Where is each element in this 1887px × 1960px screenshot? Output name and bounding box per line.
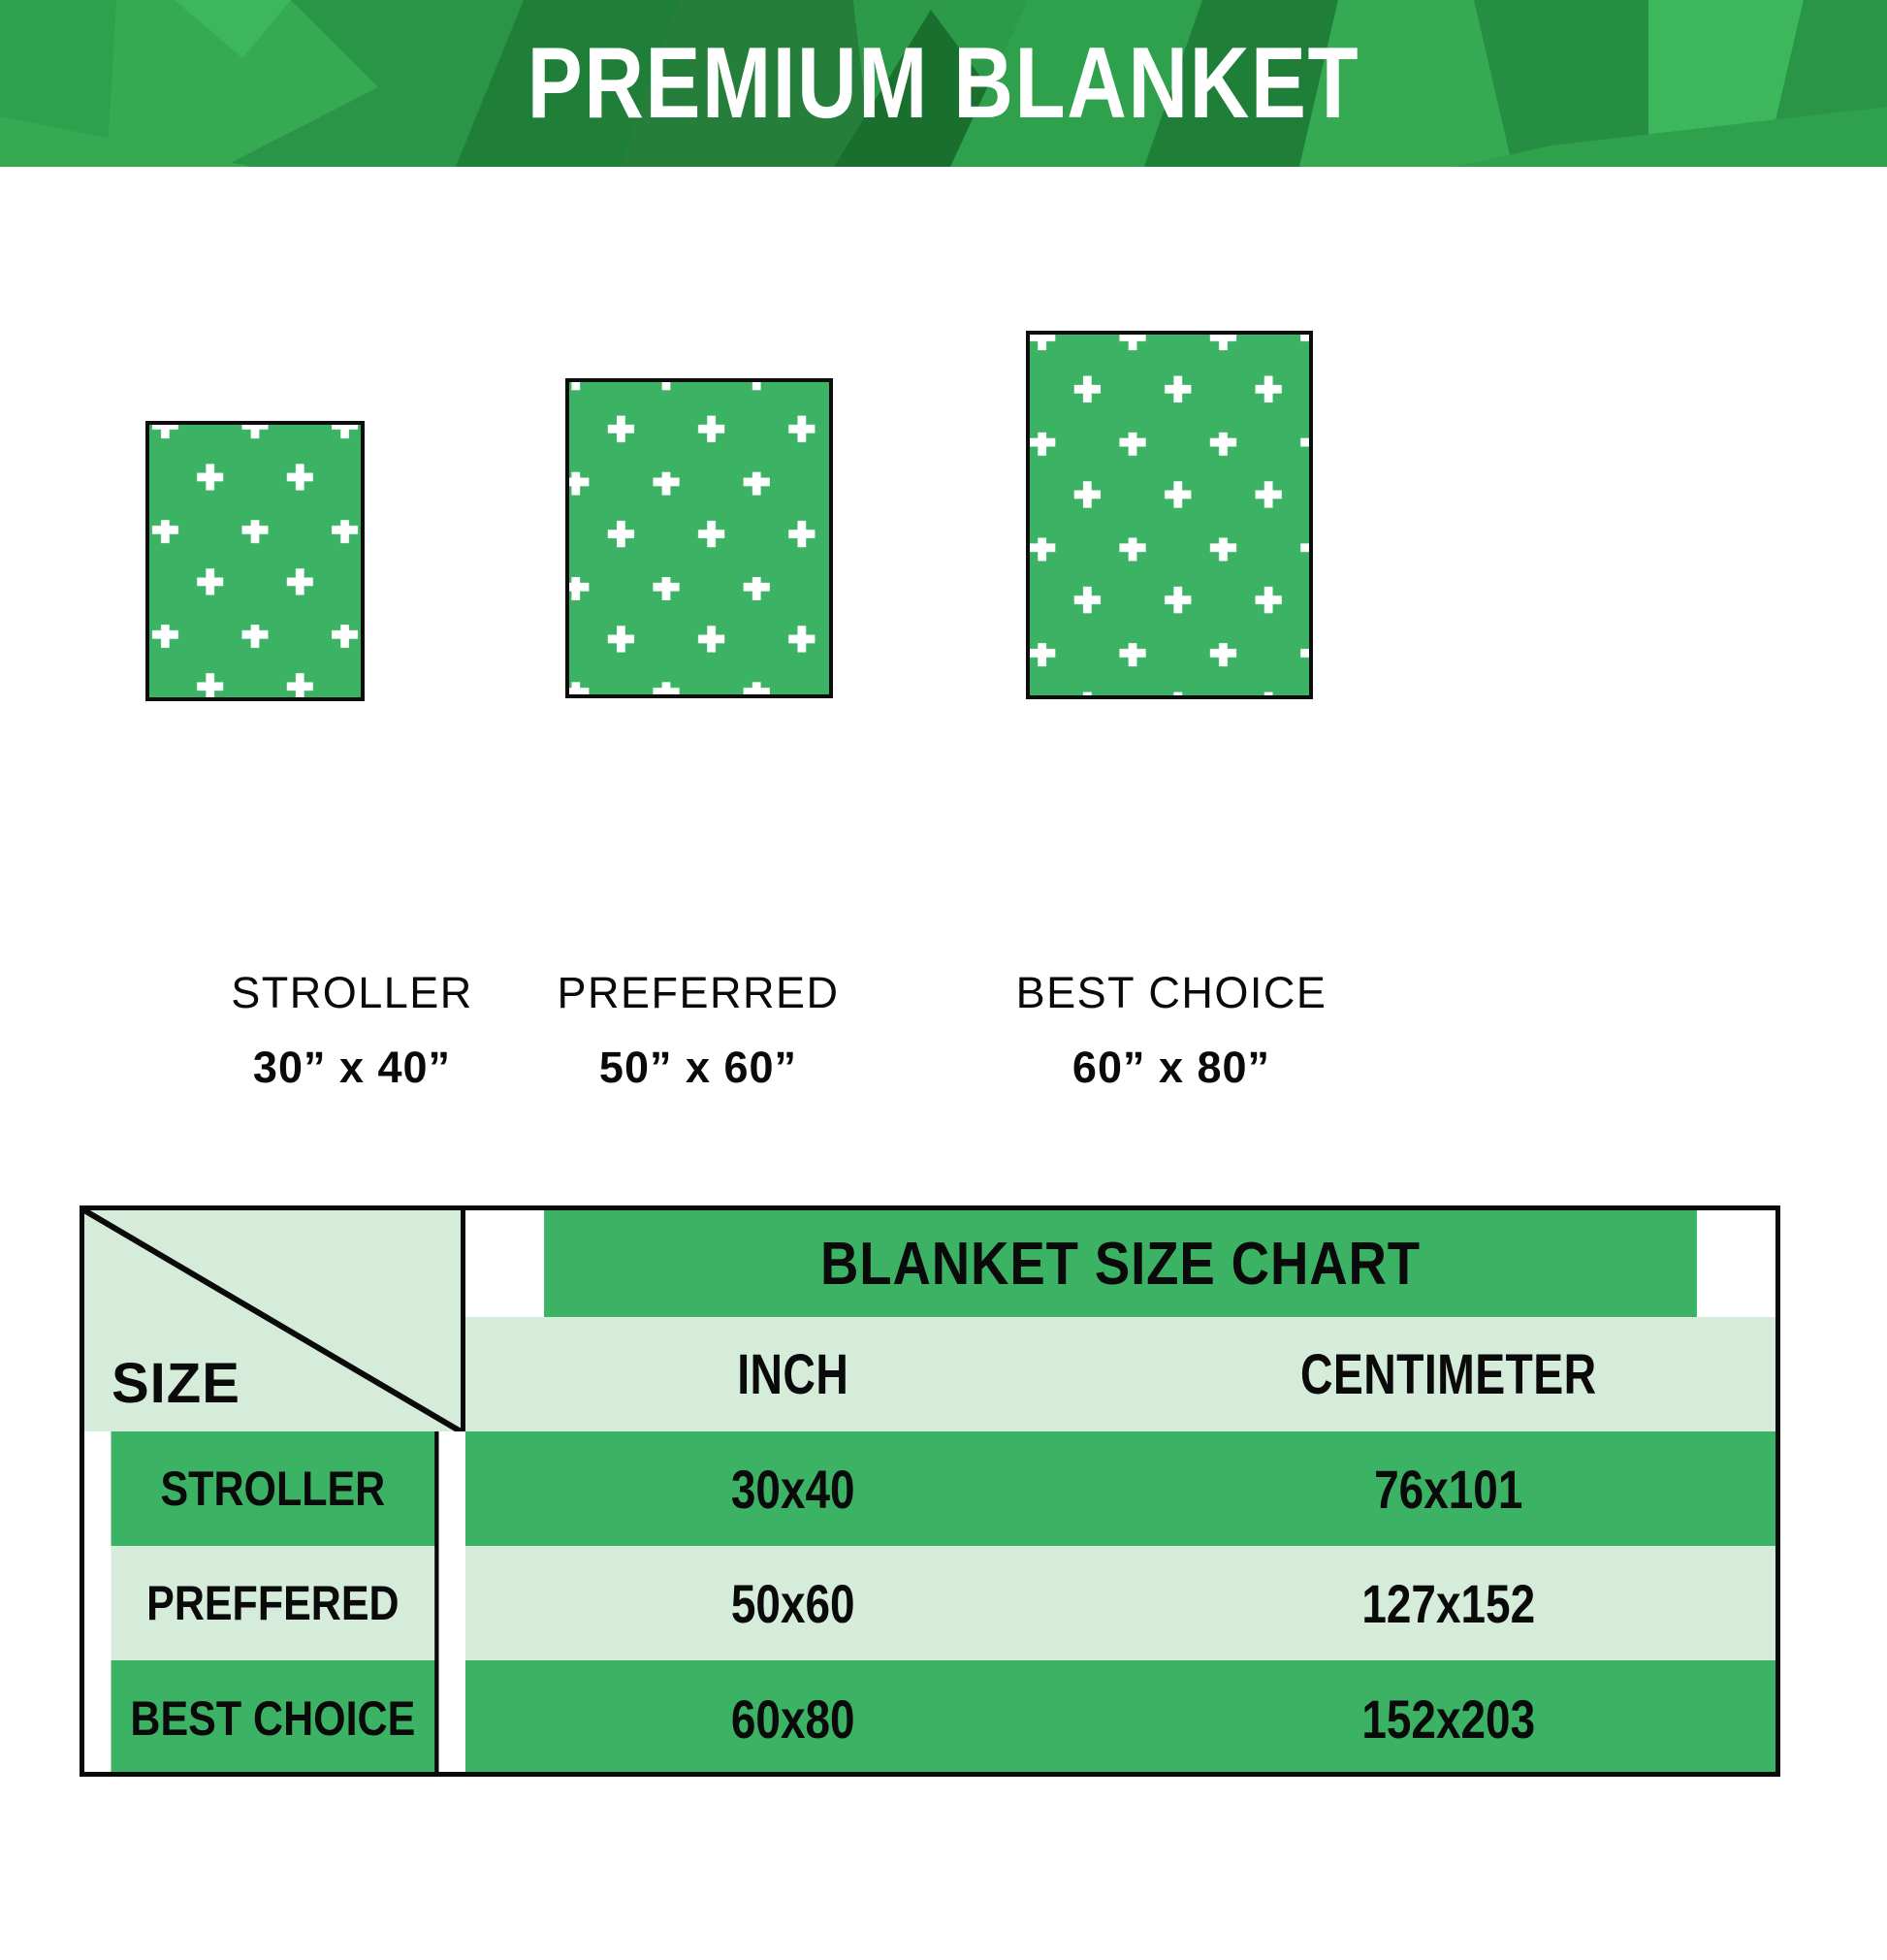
table-row: 60x80 152x203 — [465, 1660, 1775, 1777]
cell-inch-stroller: 30x40 — [525, 1431, 1062, 1546]
table-title: BLANKET SIZE CHART — [544, 1210, 1697, 1317]
blanket-size-chart-table: SIZE BLANKET SIZE CHART INCH CENTIMETER … — [80, 1205, 1780, 1777]
page-title: PREMIUM BLANKET — [170, 0, 1717, 167]
blanket-swatch-best-choice — [1026, 331, 1313, 699]
cell-centimeter-best-choice: 152x203 — [1179, 1660, 1716, 1777]
header-banner: PREMIUM BLANKET — [0, 0, 1887, 167]
swatch-name-best-choice: BEST CHOICE — [880, 970, 1462, 1015]
blanket-swatch-preferred — [565, 378, 833, 698]
table-row-label-stroller: STROLLER — [112, 1431, 439, 1546]
table-row-label-best-choice: BEST CHOICE — [112, 1660, 439, 1777]
swatch-dimensions-best-choice: 60” x 80” — [880, 1044, 1462, 1090]
cross-pattern — [569, 382, 829, 694]
column-header-inch: INCH — [531, 1317, 1055, 1431]
swatch-caption-best-choice: BEST CHOICE 60” x 80” — [880, 970, 1462, 1091]
cell-centimeter-stroller: 76x101 — [1179, 1431, 1716, 1546]
cell-inch-best-choice: 60x80 — [525, 1660, 1062, 1777]
table-row: 30x40 76x101 — [465, 1431, 1775, 1546]
cell-inch-preffered: 50x60 — [525, 1546, 1062, 1660]
cross-pattern — [149, 425, 361, 697]
blanket-swatch-stroller — [145, 421, 365, 701]
table-row: 50x60 127x152 — [465, 1546, 1775, 1660]
table-corner-label: SIZE — [112, 1351, 240, 1416]
cross-pattern — [1030, 335, 1309, 695]
table-column-headers: INCH CENTIMETER — [465, 1317, 1775, 1431]
column-header-centimeter: CENTIMETER — [1186, 1317, 1710, 1431]
table-corner-size-cell: SIZE — [84, 1210, 465, 1431]
cell-centimeter-preffered: 127x152 — [1179, 1546, 1716, 1660]
table-row-label-preffered: PREFFERED — [112, 1546, 439, 1660]
